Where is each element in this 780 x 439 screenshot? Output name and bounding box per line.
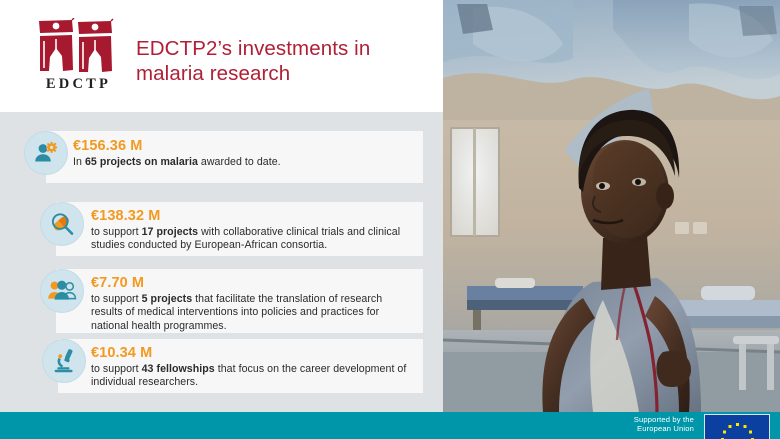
eu-support-line-2: European Union [574, 424, 694, 433]
desc-lead: In [73, 156, 85, 168]
person-with-gear-icon [24, 131, 68, 175]
desc-lead: to support [91, 363, 142, 375]
fact-amount: €138.32 M [91, 208, 411, 225]
fact-description: to support 17 projects with collaborativ… [91, 226, 411, 253]
edctp-two-figures-logo-icon [36, 18, 116, 74]
fact-text: €7.70 M to support 5 projects that facil… [91, 275, 413, 333]
magnifier-over-pill-icon [40, 202, 84, 246]
clinic-photo [443, 0, 780, 412]
desc-highlight: 17 projects [142, 226, 199, 238]
fact-description: In 65 projects on malaria awarded to dat… [73, 156, 403, 169]
eu-support-text: Supported by the European Union [574, 415, 694, 434]
microscope-icon [42, 339, 86, 383]
footer-bar: Supported by the European Union [0, 412, 780, 439]
edctp-wordmark: EDCTP [36, 76, 118, 93]
fact-amount: €7.70 M [91, 275, 413, 292]
header: EDCTP EDCTP2’s investments in malaria re… [0, 0, 443, 112]
infographic-slide: EDCTP EDCTP2’s investments in malaria re… [0, 0, 780, 439]
fact-text: €156.36 M In 65 projects on malaria awar… [73, 138, 403, 169]
eu-support-line-1: Supported by the [574, 415, 694, 424]
fact-description: to support 5 projects that facilitate th… [91, 293, 413, 333]
desc-highlight: 43 fellowships [142, 363, 215, 375]
fact-description: to support 43 fellowships that focus on … [91, 363, 411, 390]
page-title: EDCTP2’s investments in malaria research [136, 36, 426, 86]
desc-highlight: 5 projects [142, 293, 193, 305]
desc-lead: to support [91, 293, 142, 305]
edctp-logo: EDCTP [36, 18, 118, 93]
european-union-flag-icon [704, 414, 770, 439]
clinic-photo-image [443, 0, 780, 412]
fact-text: €10.34 M to support 43 fellowships that … [91, 345, 411, 390]
desc-highlight: 65 projects on malaria [85, 156, 198, 168]
fact-amount: €10.34 M [91, 345, 411, 362]
group-of-people-icon [40, 269, 84, 313]
desc-lead: to support [91, 226, 142, 238]
fact-amount: €156.36 M [73, 138, 403, 155]
left-column: EDCTP EDCTP2’s investments in malaria re… [0, 0, 443, 412]
desc-tail: awarded to date. [198, 156, 281, 168]
fact-text: €138.32 M to support 17 projects with co… [91, 208, 411, 253]
